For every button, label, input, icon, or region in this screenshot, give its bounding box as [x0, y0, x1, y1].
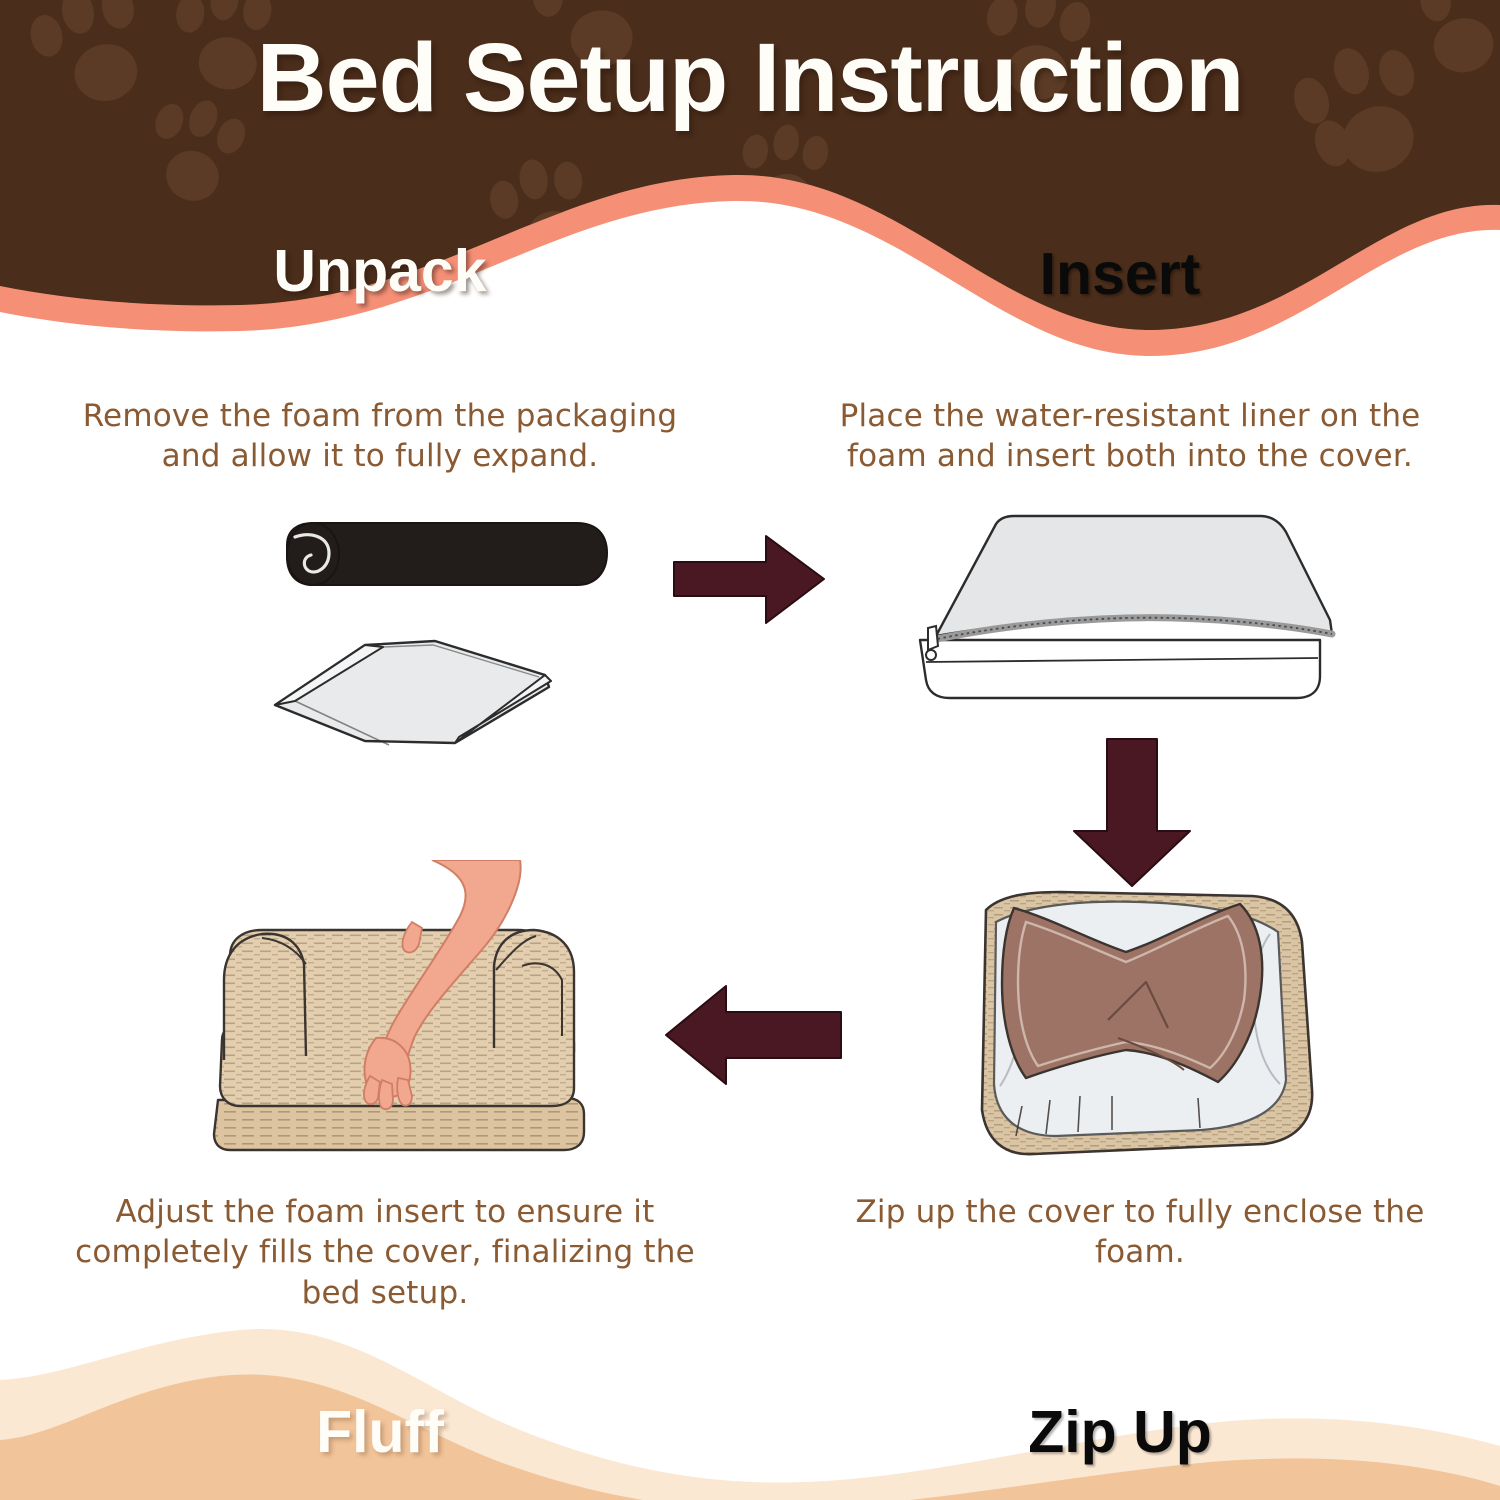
folded-liner-icon [275, 641, 551, 745]
section-title-zipup: Zip Up [740, 1398, 1500, 1466]
bed-left-bolster [224, 934, 306, 1060]
arrow-right-icon [674, 536, 824, 623]
page-title: Bed Setup Instruction [0, 22, 1500, 134]
caption-unpack: Remove the foam from the packaging and a… [55, 396, 705, 477]
rolled-foam-icon [287, 523, 607, 585]
section-title-fluff: Fluff [0, 1398, 760, 1466]
caption-zipup: Zip up the cover to fully enclose the fo… [820, 1192, 1460, 1273]
arrow-insert-to-zipup [1062, 735, 1202, 890]
section-title-unpack: Unpack [0, 237, 760, 305]
section-title-insert: Insert [740, 240, 1500, 308]
cover-with-foam-illustration [930, 870, 1350, 1190]
mattress-cover-icon [920, 516, 1332, 698]
infographic-root: Bed Setup Instruction Unpack Insert Remo… [0, 0, 1500, 1500]
zippered-mattress-illustration [900, 500, 1340, 715]
arrow-zipup-to-fluff [660, 980, 845, 1090]
hand-pressing-bed-illustration [170, 860, 610, 1180]
bed-right-bolster [494, 930, 574, 1052]
arrow-left-icon [666, 986, 841, 1084]
arrow-unpack-to-insert [670, 532, 830, 627]
arrow-down-icon [1074, 739, 1190, 886]
zipper-pull-icon [926, 626, 938, 660]
rolled-foam-and-liner-illustration [255, 505, 635, 755]
caption-insert: Place the water-resistant liner on the f… [800, 396, 1460, 477]
caption-fluff: Adjust the foam insert to ensure it comp… [55, 1192, 715, 1313]
